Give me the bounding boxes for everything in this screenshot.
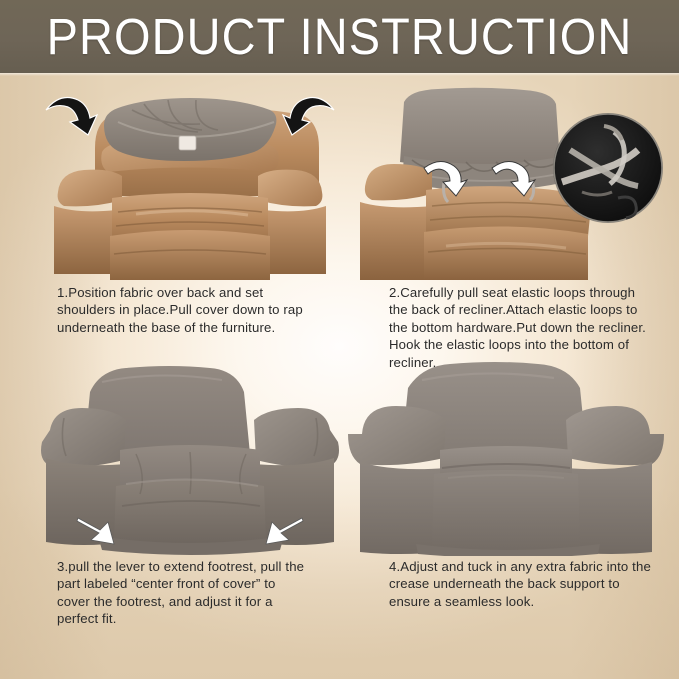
covered-arm-right-base (254, 458, 334, 545)
recliner-back-covered-with-elastic-loops (346, 86, 666, 281)
covered-arm-right (566, 406, 664, 465)
finished-smooth-covered-recliner (346, 358, 666, 556)
covered-seat-cushion (432, 470, 580, 555)
step-3-caption: 3.pull the lever to extend footrest, pul… (57, 558, 312, 628)
chair-arm-right-base (264, 206, 326, 274)
instruction-step-4: 4.Adjust and tuck in any extra fabric in… (346, 358, 666, 618)
step-1-caption: 1.Position fabric over back and set shou… (57, 284, 307, 336)
chair-seat-cushion (110, 230, 270, 280)
covered-chair-back (400, 88, 560, 169)
chair-seat-cushion (424, 226, 588, 280)
chair-arm-left (365, 164, 432, 200)
header-underline (0, 73, 679, 76)
chair-arm-left-base (54, 206, 116, 274)
covered-arm-left (348, 406, 446, 465)
recliner-with-fabric-draped-over-back (40, 86, 340, 281)
product-instruction-infographic: PRODUCT INSTRUCTION (0, 0, 679, 679)
step-4-caption: 4.Adjust and tuck in any extra fabric in… (389, 558, 654, 610)
fully-covered-recliner-with-loose-fabric (40, 358, 340, 556)
covered-arm-right (254, 408, 339, 467)
covered-arm-left (41, 408, 126, 467)
header-banner: PRODUCT INSTRUCTION (0, 0, 679, 73)
instruction-step-1: 1.Position fabric over back and set shou… (40, 86, 340, 356)
instruction-step-3: 3.pull the lever to extend footrest, pul… (40, 358, 340, 628)
cover-tag (179, 136, 196, 150)
covered-arm-left-base (46, 458, 126, 545)
instruction-step-2: 2.Carefully pull seat elastic loops thro… (346, 86, 666, 376)
elastic-loop-hardware-closeup (554, 114, 662, 222)
chair-arm-left-base (360, 202, 432, 280)
page-title: PRODUCT INSTRUCTION (27, 6, 652, 68)
arrow-black-left (46, 98, 97, 135)
